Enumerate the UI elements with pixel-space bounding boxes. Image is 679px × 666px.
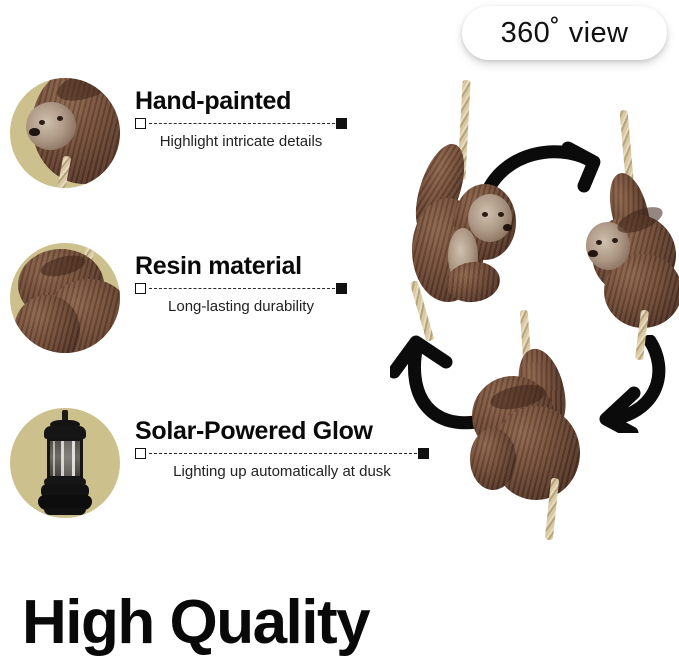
feature-item-solar-powered-glow: Solar-Powered Glow Lighting up automatic…	[0, 408, 440, 573]
feature-subtitle: Highlight intricate details	[135, 133, 347, 151]
product-360-stage	[380, 60, 679, 550]
dashed-line	[149, 453, 417, 454]
feature-thumbnail-solar-powered-glow[interactable]	[10, 408, 120, 518]
lantern-icon	[38, 410, 92, 516]
thumbnail-circle	[10, 408, 120, 518]
sloth-figurine-back-view[interactable]	[464, 310, 600, 540]
feature-subtitle: Long-lasting durability	[135, 298, 347, 316]
dashed-line	[149, 288, 335, 289]
marker-open-square-icon	[135, 283, 146, 294]
marker-open-square-icon	[135, 118, 146, 129]
thumbnail-circle	[10, 243, 120, 353]
headline-high-quality: High Quality	[22, 592, 369, 654]
feature-thumbnail-hand-painted[interactable]	[10, 78, 120, 188]
marker-filled-square-icon	[336, 283, 347, 294]
feature-item-hand-painted: Hand-painted Highlight intricate details	[0, 78, 440, 243]
thumbnail-circle	[10, 78, 120, 188]
feature-item-resin-material: Resin material Long-lasting durability	[0, 243, 440, 408]
feature-thumbnail-resin-material[interactable]	[10, 243, 120, 353]
badge-360-view-label: 360˚ view	[501, 19, 629, 48]
sloth-body-closeup-image	[10, 243, 120, 353]
feature-list: Hand-painted Highlight intricate details	[0, 78, 440, 573]
dashed-line	[149, 123, 335, 124]
sloth-head-closeup-image	[10, 78, 120, 188]
marker-open-square-icon	[135, 448, 146, 459]
marker-filled-square-icon	[336, 118, 347, 129]
degree-icon: ˚	[550, 15, 560, 47]
badge-360-view[interactable]: 360˚ view	[462, 6, 667, 60]
solar-lantern-image	[10, 408, 120, 518]
sloth-figurine-front-left-view[interactable]	[396, 80, 526, 340]
